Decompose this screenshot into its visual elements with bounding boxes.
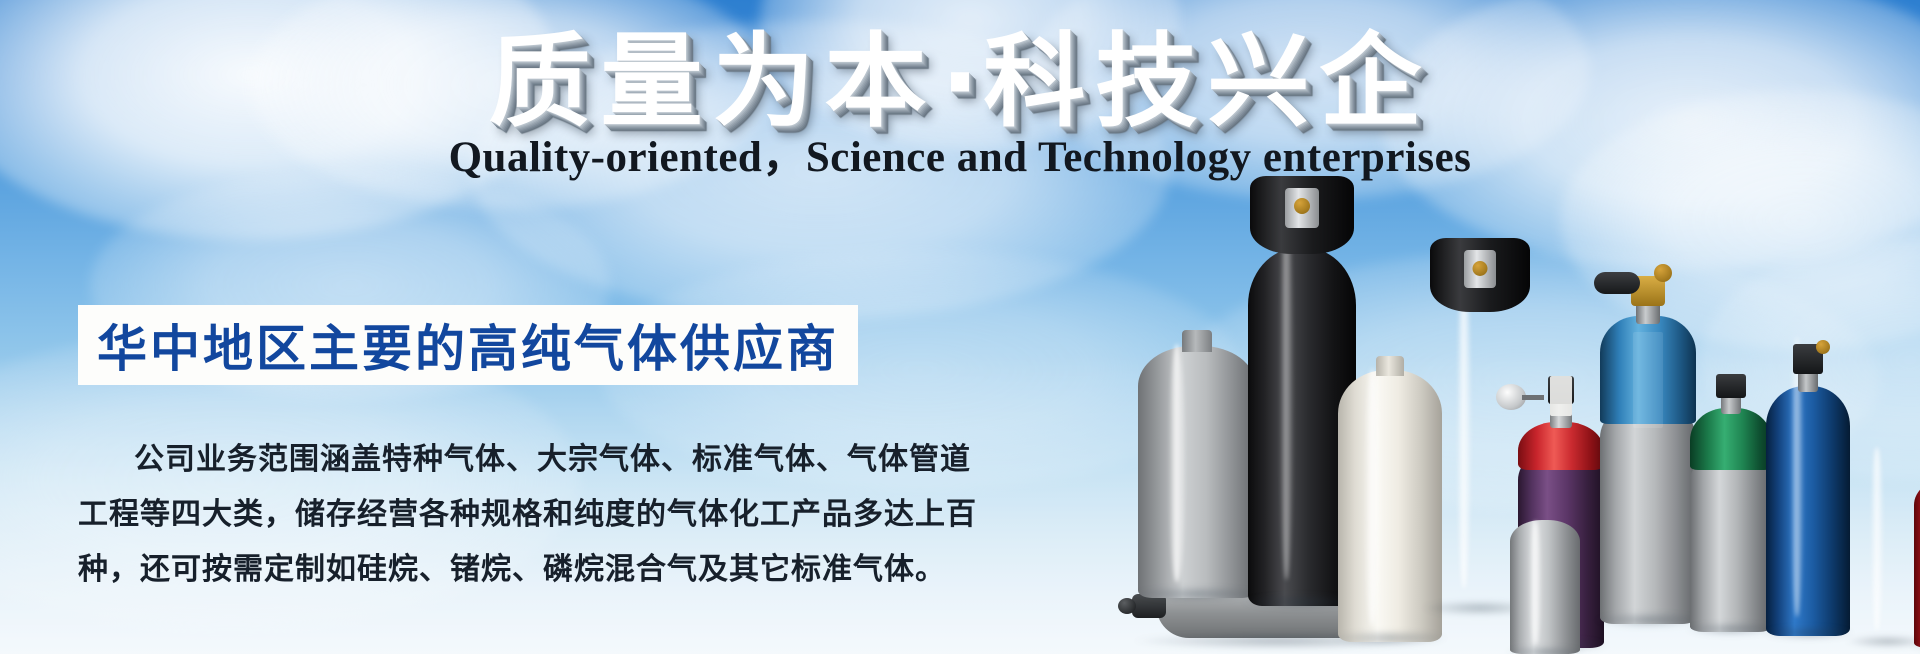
cylinder-label [1633,332,1663,428]
small-aluminium-bottle-1 [1850,434,1920,644]
description-paragraph: 公司业务范围涵盖特种气体、大宗气体、标准气体、气体管道 工程等四大类，储存经营各… [78,432,878,597]
blue-cylinder-brass-valve [1600,254,1696,624]
callout-box: 华中地区主要的高纯气体供应商 [78,305,858,385]
red-aluminium-bottle [1914,470,1920,648]
callout-text: 华中地区主要的高纯气体供应商 [97,309,839,381]
small-aluminium-bottle-2 [1510,512,1580,654]
gas-cylinder-group [1150,0,1920,654]
paragraph-line-2: 工程等四大类，储存经营各种规格和纯度的气体化工产品多达上百 [78,487,878,542]
valve-handwheel-icon [1594,272,1640,294]
blue-aluminium-cylinder [1766,318,1850,636]
headline-separator-dot: · [937,23,984,142]
cylinder-valve [1716,374,1746,398]
headline-part-1: 质量为本 [489,23,937,142]
hero-banner: 质量为本·科技兴企 Quality-oriented，Science and T… [0,0,1920,654]
green-top-cylinder [1690,374,1772,632]
white-cream-cylinder [1338,352,1442,642]
paragraph-line-1: 公司业务范围涵盖特种气体、大宗气体、标准气体、气体管道 [78,432,878,487]
grey-tall-cylinder-left [1138,328,1256,598]
paragraph-line-3: 种，还可按需定制如硅烷、锗烷、磷烷混合气及其它标准气体。 [78,542,878,597]
